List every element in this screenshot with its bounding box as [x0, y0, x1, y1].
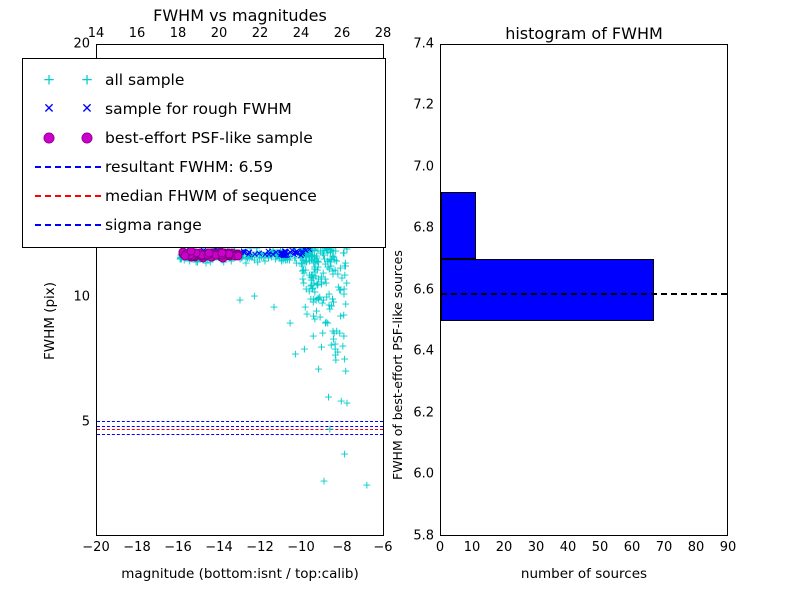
legend-item-psf-like: best-effort PSF-like sample: [31, 123, 377, 152]
legend-marker-dot: [31, 128, 105, 148]
right-ytick-5: 6.8: [394, 221, 434, 236]
sigma-range-lower-line: [97, 434, 383, 435]
figure-canvas: FWHM vs magnitudes 14 16 18 20 22 24 26 …: [0, 0, 800, 600]
left-ytick-5: 5: [56, 415, 90, 430]
left-ylabel: FWHM (pix): [42, 282, 58, 360]
right-ytick-8: 7.4: [394, 37, 434, 52]
histogram-bar-1: [441, 192, 476, 259]
legend-marker-cross: ✕✕: [31, 99, 105, 119]
right-xtick-8: 80: [688, 540, 705, 555]
right-histogram-axes: [440, 44, 728, 536]
left-xtick-top-2: 18: [170, 26, 187, 41]
left-ytick-20: 20: [56, 37, 90, 52]
left-ytick-10: 10: [56, 290, 90, 305]
left-xtick-top-6: 26: [334, 26, 351, 41]
legend-label-3: resultant FWHM: 6.59: [105, 158, 273, 176]
right-plot-title: histogram of FWHM: [505, 24, 663, 43]
left-xlabel: magnitude (bottom:isnt / top:calib): [121, 566, 358, 582]
left-xtick-bottom-2: −16: [164, 540, 191, 555]
legend-item-all-sample: ++ all sample: [31, 65, 377, 94]
sigma-range-upper-line: [97, 421, 383, 422]
legend-item-rough-fwhm: ✕✕ sample for rough FWHM: [31, 94, 377, 123]
legend-label-0: all sample: [105, 71, 184, 89]
legend-item-resultant-fwhm: resultant FWHM: 6.59: [31, 152, 377, 181]
right-xtick-5: 50: [592, 540, 609, 555]
legend-label-1: sample for rough FWHM: [105, 100, 292, 118]
left-xtick-top-4: 22: [252, 26, 269, 41]
histogram-bar-0: [441, 259, 654, 320]
left-xtick-bottom-6: −8: [332, 540, 351, 555]
right-xtick-9: 90: [720, 540, 737, 555]
resultant-fwhm-line: [97, 426, 383, 427]
right-xtick-0: 0: [436, 540, 444, 555]
right-ytick-6: 7.0: [394, 160, 434, 175]
left-plot-title: FWHM vs magnitudes: [153, 6, 327, 25]
right-xtick-6: 60: [624, 540, 641, 555]
right-ytick-7: 7.2: [394, 98, 434, 113]
histogram-median-line: [441, 293, 727, 295]
legend-item-sigma-range: sigma range: [31, 210, 377, 239]
median-fwhm-line: [97, 429, 383, 430]
left-xtick-bottom-4: −12: [246, 540, 273, 555]
legend-marker-dashed-red: [31, 186, 105, 206]
left-xtick-top-5: 24: [293, 26, 310, 41]
right-xtick-2: 20: [496, 540, 513, 555]
right-xtick-7: 70: [656, 540, 673, 555]
right-xlabel: number of sources: [521, 566, 647, 582]
left-xtick-top-7: 28: [375, 26, 392, 41]
right-ytick-0: 5.8: [394, 529, 434, 544]
left-xtick-bottom-0: −20: [82, 540, 109, 555]
legend-box: ++ all sample ✕✕ sample for rough FWHM b…: [22, 58, 386, 248]
legend-label-5: sigma range: [105, 216, 202, 234]
left-xtick-bottom-5: −10: [287, 540, 314, 555]
left-xtick-top-3: 20: [211, 26, 228, 41]
left-xtick-bottom-7: −6: [373, 540, 392, 555]
right-ylabel: FWHM of best-effort PSF-like sources: [390, 250, 405, 480]
left-xtick-bottom-3: −14: [205, 540, 232, 555]
right-xtick-3: 30: [528, 540, 545, 555]
right-xtick-1: 10: [464, 540, 481, 555]
legend-marker-plus: ++: [31, 70, 105, 90]
legend-item-median-fwhm: median FHWM of sequence: [31, 181, 377, 210]
legend-marker-dashed-blue: [31, 157, 105, 177]
right-xtick-4: 40: [560, 540, 577, 555]
legend-label-4: median FHWM of sequence: [105, 187, 317, 205]
legend-marker-dashdot-blue: [31, 215, 105, 235]
left-xtick-top-1: 16: [129, 26, 146, 41]
legend-label-2: best-effort PSF-like sample: [105, 129, 313, 147]
left-xtick-bottom-1: −18: [123, 540, 150, 555]
left-xtick-top-0: 14: [88, 26, 105, 41]
